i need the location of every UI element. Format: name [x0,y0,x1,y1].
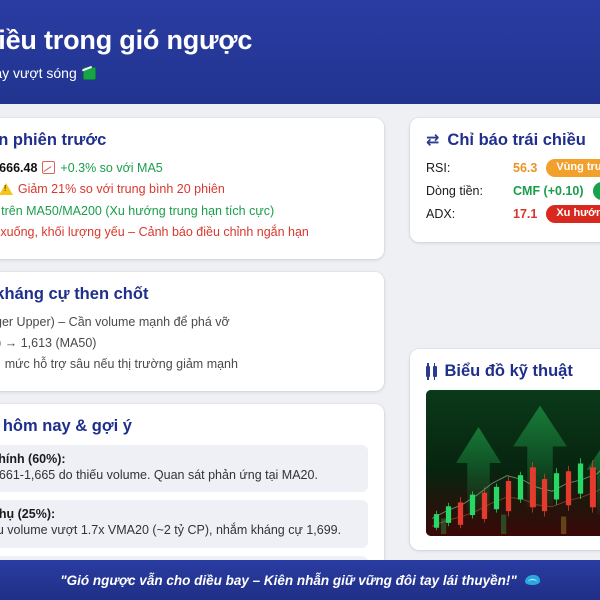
index-delta: +0.3% so với MA5 [60,159,162,178]
page-title: Cánh diều trong gió ngược [0,25,252,56]
green-chart-emoji-icon [83,67,96,80]
overview-index-row: VNINDEX: 1,666.48 +0.3% so với MA5 [0,159,368,178]
overview-bullet-text: Giá duy trì trên MA50/MA200 (Xu hướng tr… [0,202,274,221]
main-content: Tổng quan phiên trước VNINDEX: 1,666.48 … [0,104,600,560]
swap-arrows-icon: ⇄ [426,133,439,149]
indicator-value: 56.3 [513,161,537,175]
plan-card-title: Kế hoạch hôm nay & gợi ý [0,417,368,436]
indicator-value: CMF (+0.10) [513,184,584,198]
chart-title-text: Biểu đồ kỹ thuật [445,362,573,381]
overview-bullet-row: MACD cắt xuống, khối lượng yếu – Cảnh bá… [0,223,368,242]
status-badge: Tiềm ẩn lực mua gom [593,182,600,200]
levels-card: Hỗ trợ & kháng cự then chốt 1,699 (Bolli… [0,272,384,391]
status-badge: Vùng trung lập [546,159,600,177]
status-badge: Xu hướng yếu [546,205,600,223]
plan-block-text: Đi ngang 1,661-1,665 do thiếu volume. Qu… [0,466,357,485]
levels-row: 1,699 (Bollinger Upper) – Cần volume mạn… [0,313,368,332]
level-description: mức hỗ trợ sâu nếu thị trường giảm mạnh [5,355,238,374]
candlestick-icon [426,364,437,379]
chart-up-icon [42,161,55,174]
plan-block-head: Kịch bản chính (60%): [0,452,357,466]
technical-chart-card: Biểu đồ kỹ thuật [410,349,600,550]
right-column: ⇄ Chỉ báo trái chiều RSI: 56.3 Vùng trun… [410,118,600,550]
indicator-name: ADX: [426,207,504,221]
indicator-name: Dòng tiền: [426,184,504,198]
level-description: (MA20) → 1,613 (MA50) [0,334,96,353]
overview-volume-row: ~632.8M CP Giảm 21% so với trung bình 20… [0,180,368,199]
plan-block-head: Kịch bản phụ (25%): [0,507,357,521]
indicator-value: 17.1 [513,207,537,221]
levels-row: -8.6% (1,513) mức hỗ trợ sâu nếu thị trư… [0,355,368,374]
left-column: Tổng quan phiên trước VNINDEX: 1,666.48 … [0,118,384,550]
header-subtitle: Nhật ký 20 ngày vượt sóng [0,65,252,81]
page-header: Cánh diều trong gió ngược Nhật ký 20 ngà… [0,0,600,104]
indicator-row-rsi: RSI: 56.3 Vùng trung lập [426,159,600,177]
plan-block: Kịch bản chính (60%): Đi ngang 1,661-1,6… [0,445,368,493]
levels-card-title: Hỗ trợ & kháng cự then chốt [0,285,368,304]
overview-card: Tổng quan phiên trước VNINDEX: 1,666.48 … [0,118,384,259]
overview-card-title: Tổng quan phiên trước [0,131,368,150]
index-value: 1,666.48 [0,159,37,178]
overview-bullet-row: Giá duy trì trên MA50/MA200 (Xu hướng tr… [0,202,368,221]
overview-bullet-text: MACD cắt xuống, khối lượng yếu – Cảnh bá… [0,223,309,242]
plan-block: Kịch bản phụ (25%): Bứt phá nếu volume v… [0,500,368,548]
chart-card-title: Biểu đồ kỹ thuật [426,362,600,381]
indicators-card-title: ⇄ Chỉ báo trái chiều [426,131,600,150]
indicator-row-cashflow: Dòng tiền: CMF (+0.10) Tiềm ẩn lực mua g… [426,182,600,200]
warning-icon [0,183,13,195]
plan-block-text: Bứt phá nếu volume vượt 1.7x VMA20 (~2 t… [0,521,357,540]
indicators-title-text: Chỉ báo trái chiều [447,131,585,150]
header-subtitle-text: Nhật ký 20 ngày vượt sóng [0,65,77,81]
volume-note: Giảm 21% so với trung bình 20 phiên [18,180,225,199]
level-description: (Bollinger Upper) – Cần volume mạnh để p… [0,313,230,332]
wave-emoji-icon [525,574,540,587]
footer-quote-bar: "Gió ngược vẫn cho diều bay – Kiên nhẫn … [0,560,600,600]
indicators-card: ⇄ Chỉ báo trái chiều RSI: 56.3 Vùng trun… [410,118,600,242]
indicator-name: RSI: [426,161,504,175]
candlestick-chart-image [426,390,600,536]
footer-quote-text: "Gió ngược vẫn cho diều bay – Kiên nhẫn … [60,573,517,588]
indicator-row-adx: ADX: 17.1 Xu hướng yếu [426,205,600,223]
header-text-group: Cánh diều trong gió ngược Nhật ký 20 ngà… [0,25,252,81]
levels-row: 1,661 (MA20) → 1,613 (MA50) [0,334,368,353]
page-root: Cánh diều trong gió ngược Nhật ký 20 ngà… [0,0,600,600]
